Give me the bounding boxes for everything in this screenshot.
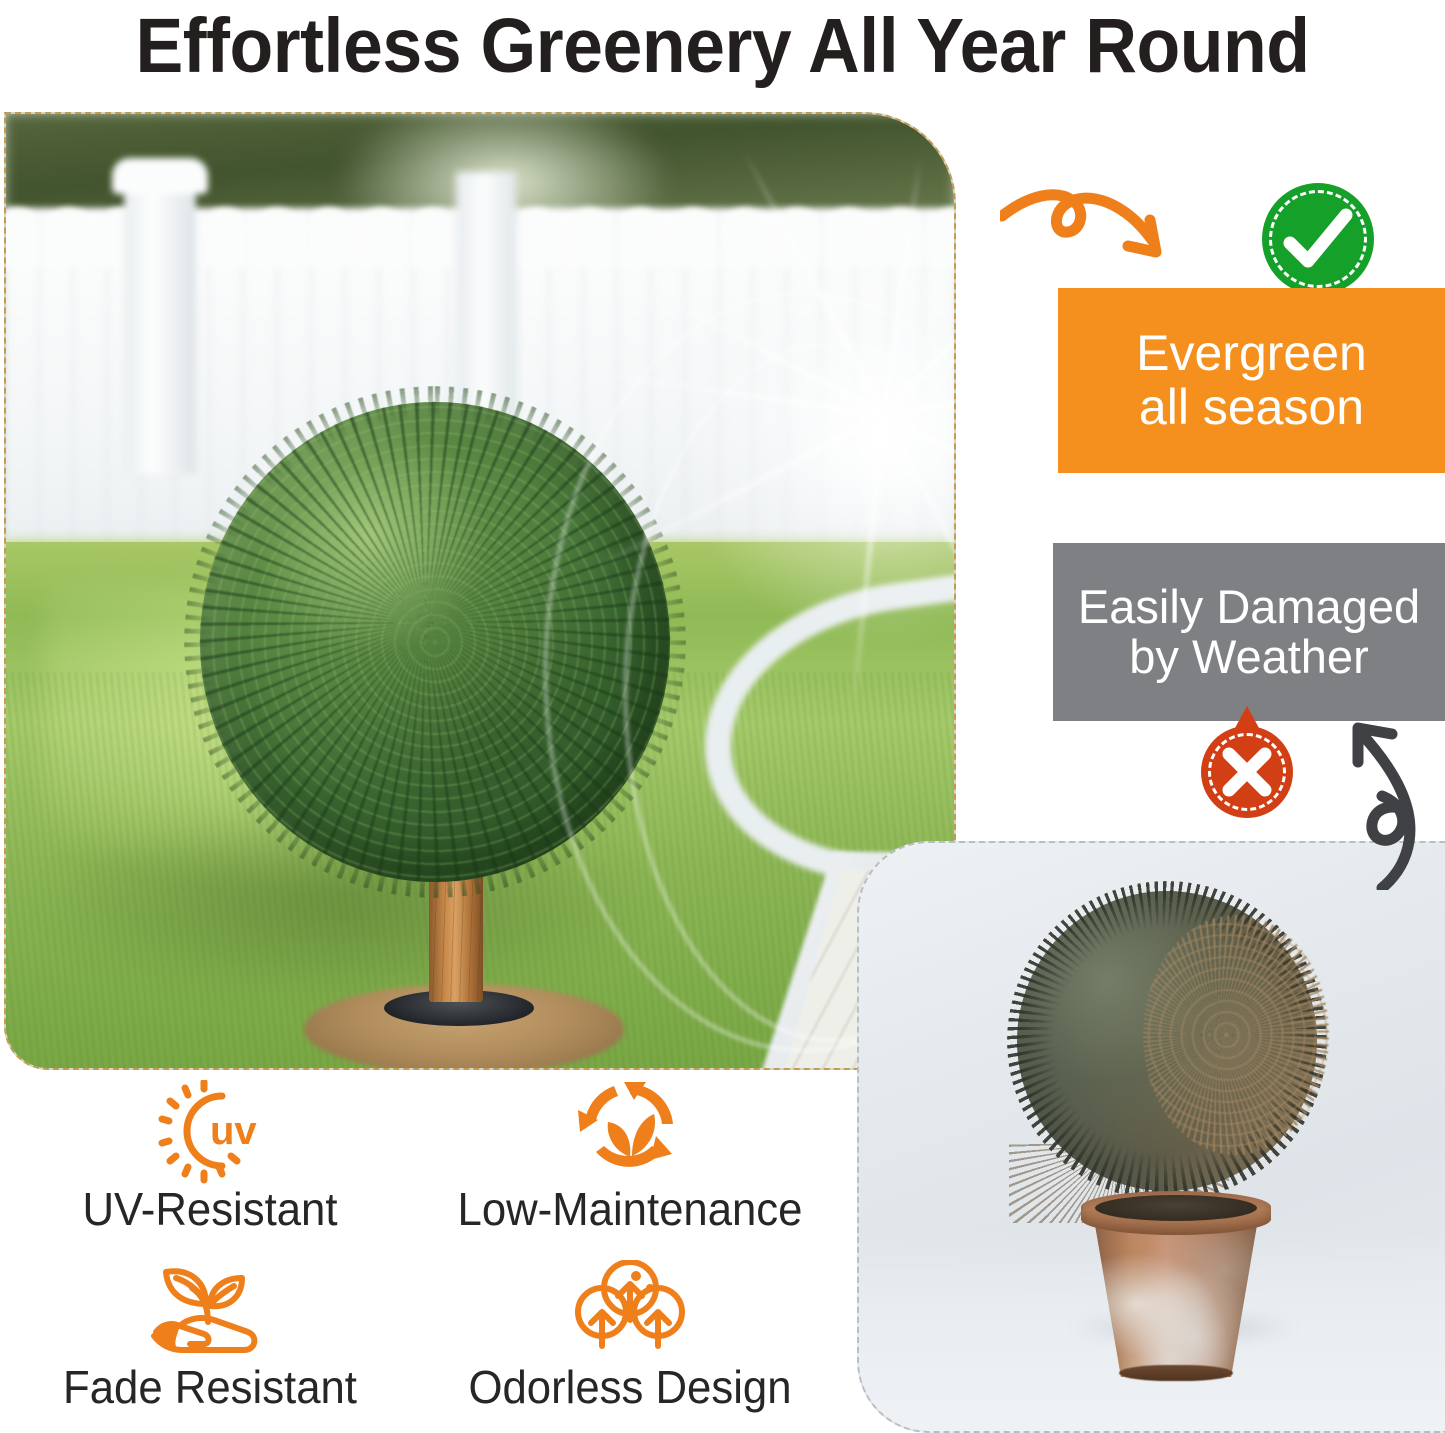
feature-label: Odorless Design <box>431 1360 830 1414</box>
curved-arrow-icon <box>1000 170 1230 305</box>
fence-picket <box>4 208 40 268</box>
recycle-leaf-icon <box>420 1078 840 1186</box>
hero-photo-scene <box>4 112 956 1070</box>
feature-uv-resistant: uv UV-Resistant <box>0 1078 420 1256</box>
terracotta-pot <box>1081 1191 1271 1381</box>
feature-low-maintenance: Low-Maintenance <box>420 1078 840 1256</box>
fence-picket <box>202 208 248 268</box>
fence-picket <box>670 208 716 268</box>
feature-label: Fade Resistant <box>11 1360 410 1414</box>
fence-post-left <box>124 174 196 474</box>
infographic-root: Effortless Greenery All Year Round <box>0 0 1445 1433</box>
badge-line-1: Easily Damaged <box>1078 582 1420 632</box>
cross-pointer-tail <box>1235 706 1259 728</box>
fence-picket <box>722 208 768 268</box>
svg-text:uv: uv <box>210 1109 257 1153</box>
badge-line-1: Evergreen <box>1136 327 1367 381</box>
fence-picket <box>306 208 352 268</box>
fence-picket <box>254 208 300 268</box>
fence-picket <box>826 208 872 268</box>
badge-line-2: by Weather <box>1129 632 1368 682</box>
cross-circle-icon <box>1201 726 1293 818</box>
feature-label: Low-Maintenance <box>431 1182 830 1236</box>
fence-picket <box>46 208 92 268</box>
secondary-photo <box>857 841 1445 1433</box>
air-arrows-icon <box>420 1256 840 1364</box>
feature-label: UV-Resistant <box>11 1182 410 1236</box>
status-badge-evergreen: Evergreen all season <box>1058 288 1445 473</box>
fence-picket <box>930 208 956 268</box>
feature-list: uv UV-Resistant <box>0 1078 860 1433</box>
fence-picket <box>566 208 612 268</box>
fence-post-cap <box>112 158 208 194</box>
uv-sun-icon: uv <box>0 1078 420 1186</box>
pot-weathering <box>1095 1225 1257 1377</box>
check-circle-icon <box>1262 183 1374 295</box>
fence-picket <box>618 208 664 268</box>
dead-topiary-crown <box>1017 891 1317 1191</box>
page-title: Effortless Greenery All Year Round <box>51 0 1395 98</box>
feature-fade-resistant: Fade Resistant <box>0 1256 420 1433</box>
feature-odorless-design: Odorless Design <box>420 1256 840 1433</box>
fence-picket <box>514 208 560 268</box>
pot-soil <box>1095 1195 1257 1221</box>
hero-photo <box>4 112 956 1070</box>
fence-picket <box>410 208 456 268</box>
badge-line-2: all season <box>1139 381 1364 435</box>
hand-sprout-icon <box>0 1256 420 1364</box>
curved-arrow-icon <box>1308 700 1438 895</box>
fence-picket <box>358 208 404 268</box>
pot-base <box>1119 1365 1233 1381</box>
fence-picket <box>878 208 924 268</box>
status-badge-damaged: Easily Damaged by Weather <box>1053 543 1445 721</box>
